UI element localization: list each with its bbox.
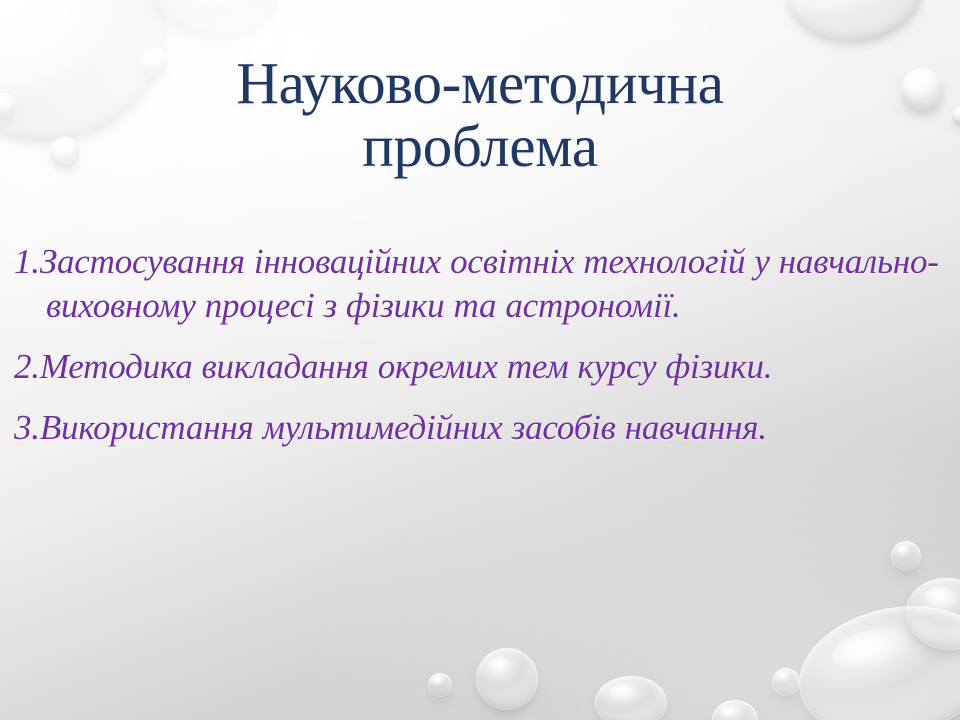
droplet-bottom-right-edge	[712, 700, 758, 720]
slide-canvas: Науково-методична проблема 1.Застосуванн…	[0, 0, 960, 720]
list-item: 1.Застосування інноваційних освітніх тех…	[14, 240, 950, 328]
droplet-bottom-right-tiny	[772, 668, 800, 696]
droplet-top-center-large	[139, 0, 290, 51]
droplet-bottom-center-right	[595, 676, 667, 720]
droplet-bottom-center-medium	[476, 648, 538, 710]
droplet-text-overlap-small	[891, 541, 921, 571]
page-title-line-2: проблема	[0, 115, 960, 178]
droplet-bottom-center-tiny	[428, 673, 452, 697]
list-item: 2.Методика викладання окремих тем курсу …	[14, 345, 950, 389]
numbered-list: 1.Застосування інноваційних освітніх тех…	[14, 240, 950, 450]
page-title: Науково-методична проблема	[0, 52, 960, 177]
droplet-bottom-right-blob	[787, 589, 960, 720]
droplet-bottom-right-upper	[901, 573, 960, 656]
page-title-line-1: Науково-методична	[0, 52, 960, 115]
list-item: 3.Використання мультимедійних засобів на…	[14, 406, 950, 450]
droplet-top-right-large	[779, 0, 930, 49]
